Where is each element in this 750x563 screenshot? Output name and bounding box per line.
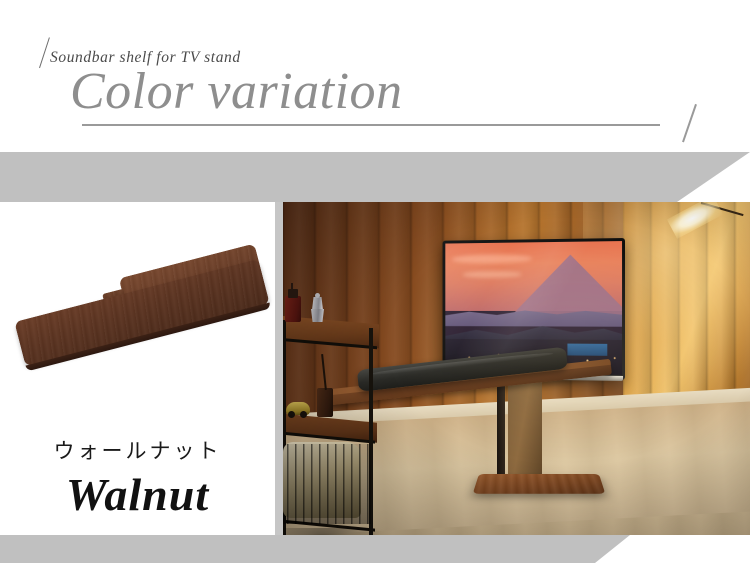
wire-basket: [283, 444, 371, 524]
title-underline: [82, 124, 660, 126]
toy-car: [286, 402, 310, 415]
page-header: Soundbar shelf for TV stand Color variat…: [0, 0, 750, 152]
reed-diffuser: [317, 388, 333, 417]
grinder-hopper: [288, 289, 298, 298]
toy-car-wheel: [288, 411, 295, 418]
page-title-block: Color variation: [70, 66, 710, 136]
product-swatch-panel[interactable]: ウォールナット Walnut: [0, 202, 275, 535]
grinder-crank: [291, 283, 293, 291]
tv-stand-base: [473, 474, 606, 494]
page-title: Color variation: [70, 66, 403, 118]
top-gray-band: [0, 152, 750, 202]
tv-stand-pole: [497, 372, 505, 480]
rack-shadow: [283, 528, 379, 535]
mount-fuji: [511, 254, 622, 316]
color-name-japanese: ウォールナット: [0, 435, 275, 465]
product-image: [0, 222, 275, 437]
moka-pot: [309, 292, 326, 322]
walnut-shelf-board: [10, 243, 269, 366]
kicker-slash-icon: [28, 36, 50, 68]
industrial-shelf-rack: [283, 284, 379, 535]
diffuser-reed: [321, 354, 327, 390]
moka-upper: [312, 297, 323, 310]
color-name-english: Walnut: [0, 470, 275, 521]
moka-lower: [311, 309, 324, 322]
color-variation-page: Soundbar shelf for TV stand Color variat…: [0, 0, 750, 563]
title-slash-icon: [670, 102, 696, 142]
bottom-band-area: [0, 535, 750, 563]
bottom-gray-band: [0, 535, 640, 563]
toy-car-wheel: [300, 411, 307, 418]
moka-lid: [315, 293, 320, 298]
room-scene-photo[interactable]: [283, 202, 750, 535]
tv-stand-post: [508, 372, 542, 482]
coffee-grinder: [285, 296, 301, 322]
panel-divider: [275, 202, 283, 535]
